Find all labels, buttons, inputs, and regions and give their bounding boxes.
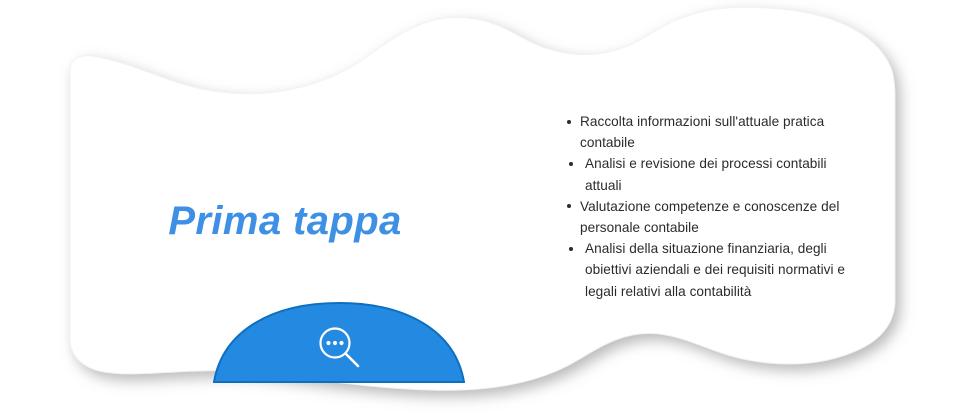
list-item: Analisi della situazione finanziaria, de… — [566, 238, 866, 302]
list-item-label: Analisi e revisione dei processi contabi… — [585, 156, 827, 192]
magnifier-dots-icon — [314, 322, 366, 374]
bullet-dot-icon — [567, 204, 571, 208]
bullet-dot-icon — [569, 247, 573, 251]
list-item: Raccolta informazioni sull'attuale prati… — [566, 111, 866, 153]
list-item: Valutazione competenze e conoscenze del … — [566, 196, 866, 238]
bullet-dot-icon — [567, 120, 571, 124]
list-item-label: Raccolta informazioni sull'attuale prati… — [580, 114, 824, 150]
activity-bullet-list: Raccolta informazioni sull'attuale prati… — [566, 111, 866, 302]
card-content: Prima tappa Raccolta informazioni sull'a… — [0, 0, 959, 420]
list-item: Analisi e revisione dei processi contabi… — [566, 153, 866, 195]
list-item-label: Valutazione competenze e conoscenze del … — [580, 199, 839, 235]
bullet-dot-icon — [569, 162, 573, 166]
magnifier-badge — [213, 300, 465, 384]
page-title: Prima tappa — [90, 196, 480, 246]
list-item-label: Analisi della situazione finanziaria, de… — [585, 241, 845, 298]
slide-canvas: Prima tappa Raccolta informazioni sull'a… — [0, 0, 959, 420]
